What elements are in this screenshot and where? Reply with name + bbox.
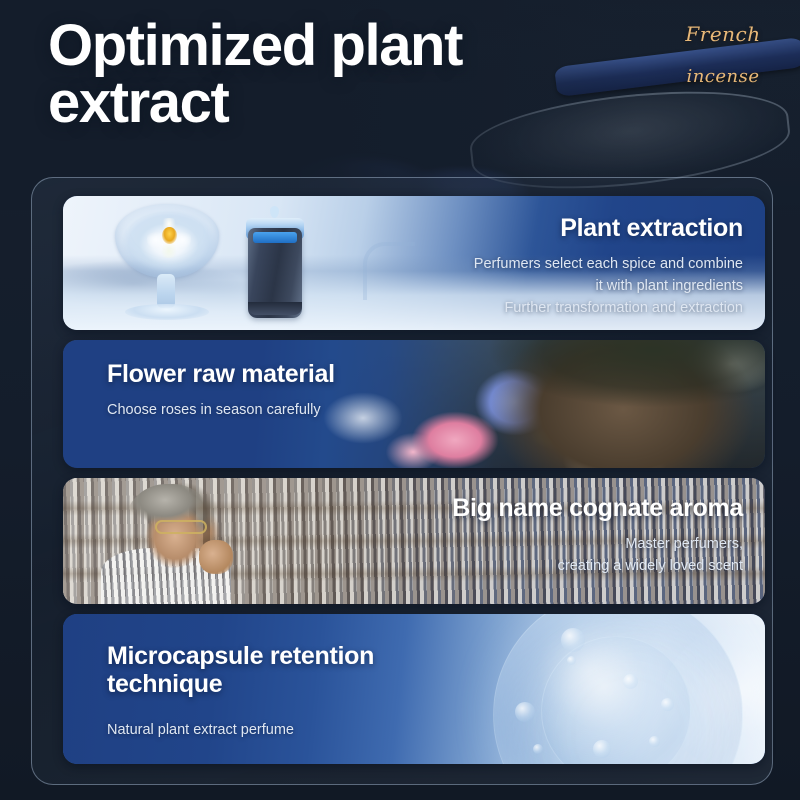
diffuser-water-icon (253, 232, 297, 243)
brand-script: French incense (668, 24, 778, 86)
card-4-title-line-1: Microcapsule retention (107, 642, 374, 670)
bubble-speck-1-icon (561, 628, 585, 652)
card-3-subtitle: Master perfumers, creating a widely love… (343, 534, 743, 578)
card-4-title: Microcapsule retention technique (107, 642, 507, 698)
card-1-subtitle-line-1: Perfumers select each spice and combine (343, 254, 743, 276)
card-4-subtitle-line-1: Natural plant extract perfume (107, 720, 507, 742)
feature-card-flower-raw-material[interactable]: Flower raw material Choose roses in seas… (63, 340, 765, 468)
orchid-core-icon (162, 227, 177, 244)
feature-panel: Plant extraction Perfumers select each s… (31, 177, 773, 785)
feature-card-plant-extraction[interactable]: Plant extraction Perfumers select each s… (63, 196, 765, 330)
card-4-subtitle: Natural plant extract perfume (107, 720, 507, 742)
brand-script-line-1: French (685, 22, 760, 46)
bubble-speck-7-icon (567, 656, 576, 665)
card-3-subtitle-line-1: Master perfumers, (343, 534, 743, 556)
brand-script-line-2: incense (668, 68, 778, 86)
card-2-subtitle: Choose roses in season carefully (107, 400, 537, 422)
bubble-speck-2-icon (515, 702, 535, 722)
card-1-subtitle-line-3: Further transformation and extraction (343, 298, 743, 320)
feature-card-list: Plant extraction Perfumers select each s… (44, 190, 760, 772)
card-1-text-block: Plant extraction Perfumers select each s… (343, 214, 743, 319)
bubble-speck-4-icon (661, 698, 674, 711)
goblet-stem-icon (157, 274, 175, 308)
card-2-text-block: Flower raw material Choose roses in seas… (107, 360, 537, 422)
perfumer-hand-icon (199, 540, 233, 574)
card-1-subtitle: Perfumers select each spice and combine … (343, 254, 743, 319)
feature-card-big-name-cognate-aroma[interactable]: Big name cognate aroma Master perfumers,… (63, 478, 765, 604)
bubble-speck-6-icon (649, 736, 660, 747)
page-title-line-2: extract (48, 70, 228, 135)
water-drop-icon (270, 206, 279, 218)
bubble-speck-3-icon (623, 674, 638, 689)
card-3-subtitle-line-2: creating a widely loved scent (343, 556, 743, 578)
card-2-subtitle-line-1: Choose roses in season carefully (107, 400, 537, 422)
diffuser-base-icon (248, 302, 302, 315)
card-1-title: Plant extraction (343, 214, 743, 242)
bubble-speck-5-icon (593, 740, 611, 758)
card-4-text-block: Microcapsule retention technique Natural… (107, 642, 507, 742)
goblet-foot-icon (125, 304, 209, 320)
card-1-subtitle-line-2: it with plant ingredients (343, 276, 743, 298)
page-title: Optimized plant extract (48, 18, 608, 132)
feature-card-microcapsule-retention-technique[interactable]: Microcapsule retention technique Natural… (63, 614, 765, 764)
card-4-title-line-2: technique (107, 670, 222, 698)
card-3-text-block: Big name cognate aroma Master perfumers,… (343, 494, 743, 578)
perfumer-glasses-icon (155, 520, 207, 534)
card-3-title: Big name cognate aroma (343, 494, 743, 522)
product-infographic-page: Optimized plant extract French incense (0, 0, 800, 800)
bubble-speck-8-icon (533, 744, 543, 754)
card-2-title: Flower raw material (107, 360, 537, 388)
page-title-line-1: Optimized plant (48, 13, 462, 78)
